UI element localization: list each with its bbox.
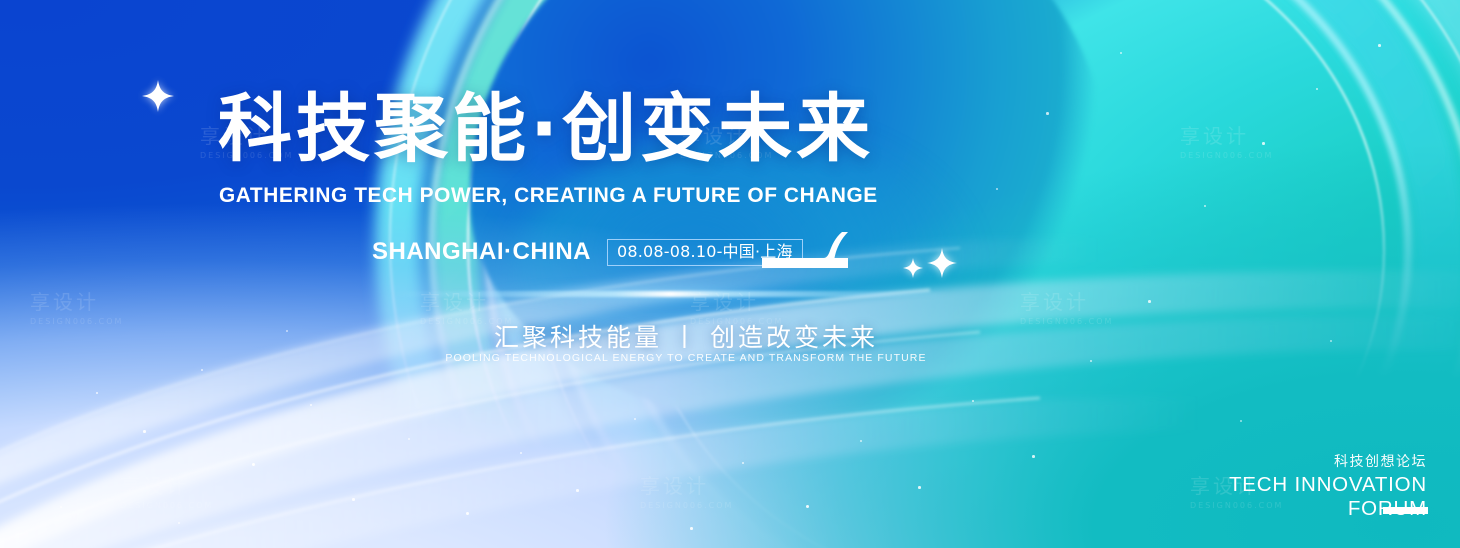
tagline-english-row: POOLING TECHNOLOGICAL ENERGY TO CREATE A… <box>0 348 1460 366</box>
city-label: SHANGHAI·CHINA <box>372 238 591 266</box>
tagline-english: POOLING TECHNOLOGICAL ENERGY TO CREATE A… <box>445 352 926 364</box>
forum-name-cn: 科技创想论坛 <box>1229 455 1427 469</box>
event-poster: 享设计 DESIGN006.COM 享设计 DESIGN006.COM 享设计 … <box>0 0 1460 548</box>
event-meta-row: SHANGHAI·CHINA 08.08-08.10-中国·上海 <box>372 238 803 266</box>
rule-bar-icon <box>1383 507 1428 514</box>
poster-content: 科技聚能·创变未来 GATHERING TECH POWER, CREATING… <box>0 0 1460 548</box>
subtitle-english: GATHERING TECH POWER, CREATING A FUTURE … <box>219 183 878 208</box>
main-title: 科技聚能·创变未来 <box>218 92 874 166</box>
swoosh-mark-icon <box>762 232 848 276</box>
forum-name-en-line1: TECH INNOVATION <box>1229 475 1427 496</box>
